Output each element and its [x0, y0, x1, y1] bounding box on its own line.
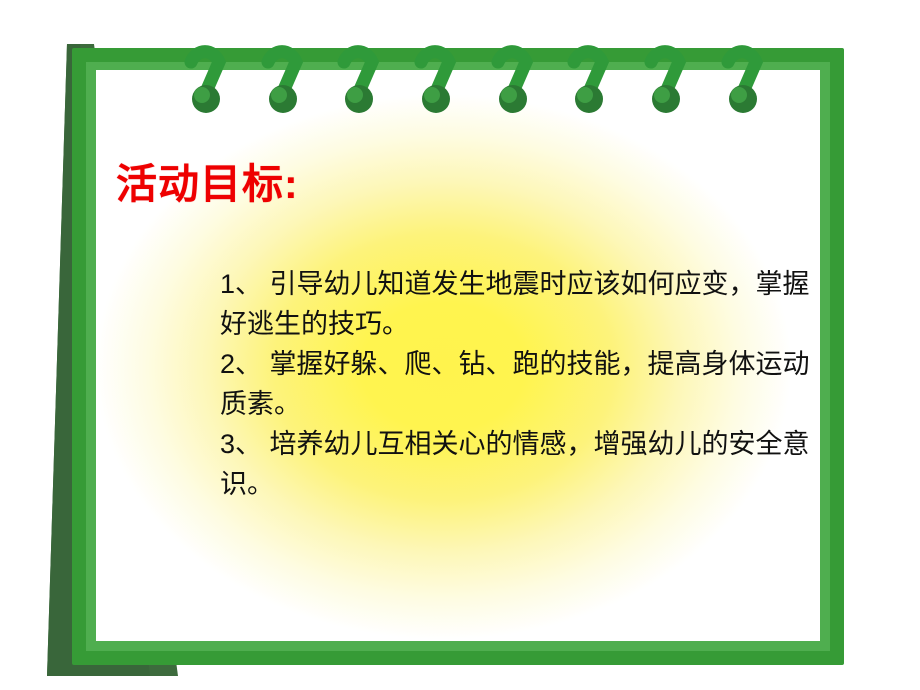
page-title: 活动目标: — [116, 164, 299, 205]
slide-canvas: 活动目标: 1、 引导幼儿知道发生地震时应该如何应变，掌握好逃生的技巧。 2、 … — [0, 0, 920, 690]
objectives-body-text: 1、 引导幼儿知道发生地震时应该如何应变，掌握好逃生的技巧。 2、 掌握好躲、爬… — [220, 264, 820, 504]
slide-text-area: 活动目标: 1、 引导幼儿知道发生地震时应该如何应变，掌握好逃生的技巧。 2、 … — [72, 48, 844, 665]
